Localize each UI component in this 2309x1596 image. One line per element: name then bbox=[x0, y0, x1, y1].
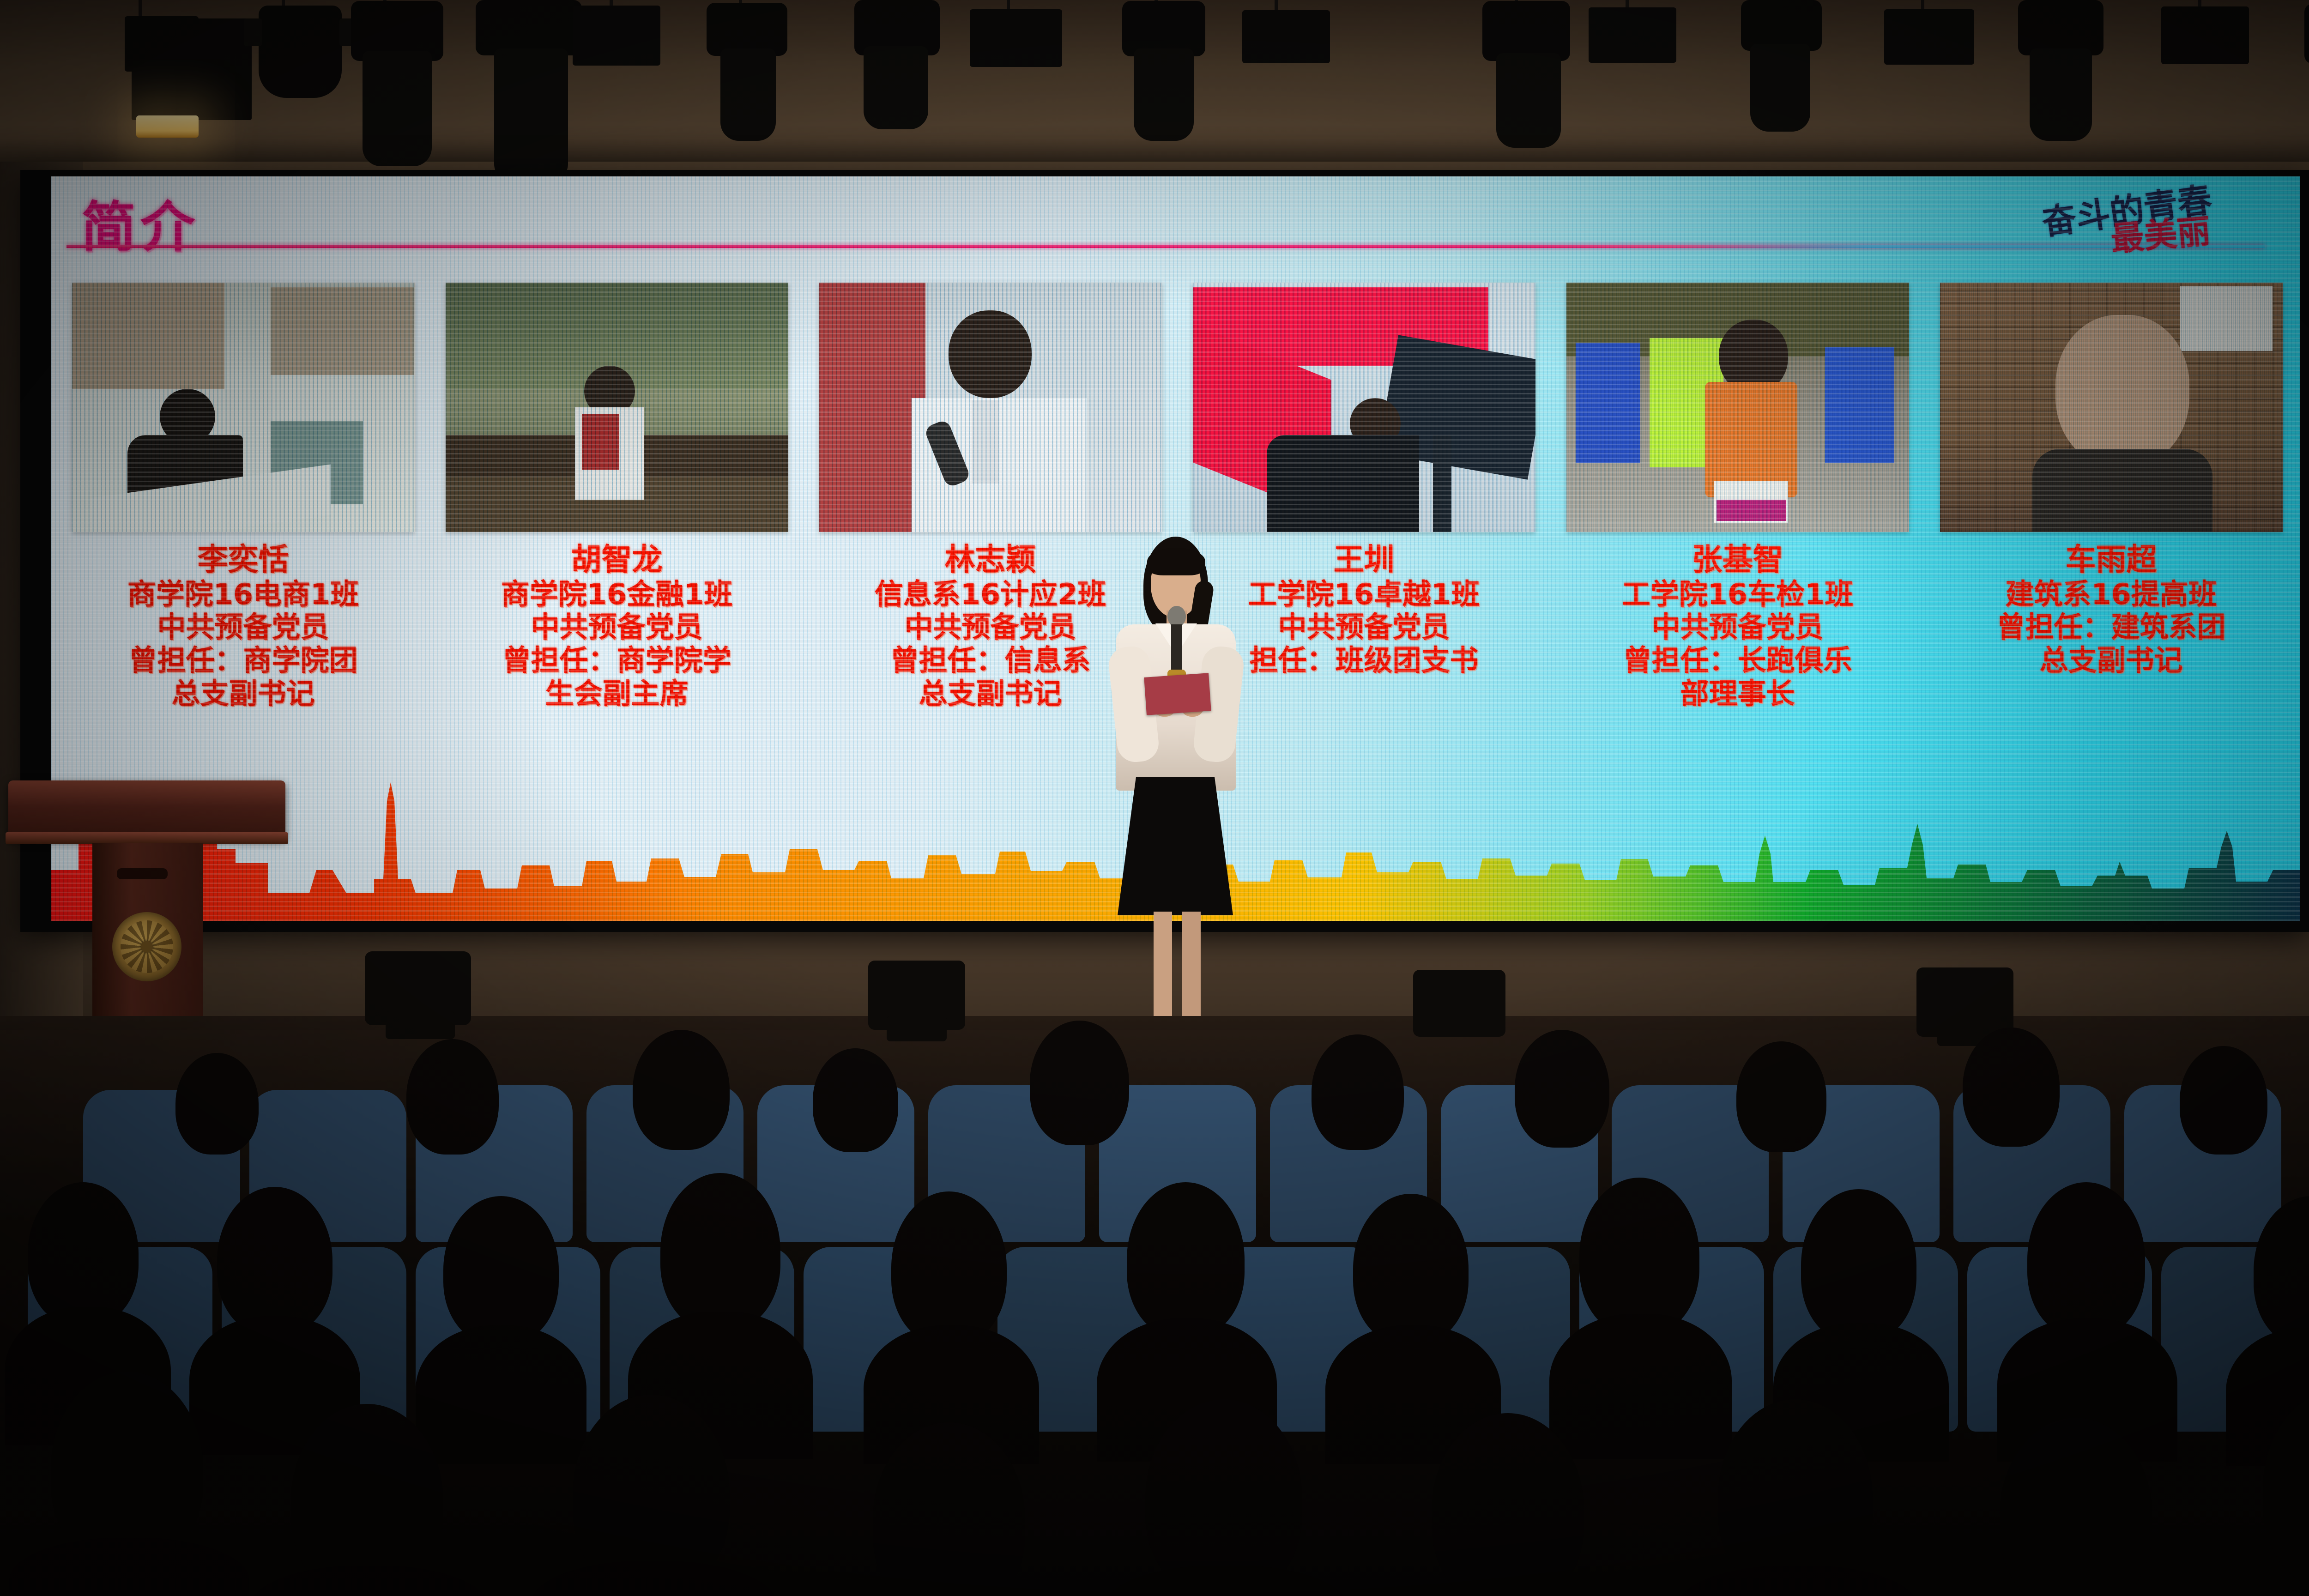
person-class: 商学院16金融1班 bbox=[501, 578, 732, 611]
person-name: 车雨超 bbox=[1996, 542, 2225, 578]
person-card: 李奕恬 商学院16电商1班 中共预备党员 曾担任：商学院团 总支副书记 bbox=[71, 283, 415, 710]
person-card: 胡智龙 商学院16金融1班 中共预备党员 曾担任：商学院学 生会副主席 bbox=[445, 283, 789, 710]
person-name: 林志颖 bbox=[875, 542, 1106, 578]
person-photo bbox=[1193, 283, 1535, 532]
person-class: 信息系16计应2班 bbox=[875, 578, 1106, 611]
calligraphy-line-2: 最美丽 bbox=[2109, 204, 2212, 260]
person-card: 车雨超 建筑系16提高班 曾担任：建筑系团 总支副书记 bbox=[1939, 283, 2283, 677]
podium-emblem-icon bbox=[112, 912, 181, 981]
person-info: 车雨超 建筑系16提高班 曾担任：建筑系团 总支副书记 bbox=[1996, 542, 2225, 677]
person-class: 工学院16车检1班 bbox=[1622, 578, 1853, 611]
person-role-line-2: 总支副书记 bbox=[127, 677, 359, 710]
person-class: 工学院16卓越1班 bbox=[1248, 578, 1480, 611]
person-party: 中共预备党员 bbox=[875, 611, 1106, 644]
person-role-line-2: 总支副书记 bbox=[1996, 644, 2225, 677]
auditorium-scene: 简介 奋斗的青春 最美丽 李奕恬 bbox=[0, 0, 2309, 1596]
person-info: 李奕恬 商学院16电商1班 中共预备党员 曾担任：商学院团 总支副书记 bbox=[127, 542, 359, 710]
person-photo bbox=[446, 283, 788, 532]
person-info: 胡智龙 商学院16金融1班 中共预备党员 曾担任：商学院学 生会副主席 bbox=[501, 542, 732, 710]
person-name: 胡智龙 bbox=[501, 542, 732, 578]
person-party: 中共预备党员 bbox=[501, 611, 732, 644]
person-role-line-1: 曾担任：商学院团 bbox=[127, 644, 359, 677]
person-photo bbox=[1940, 283, 2283, 532]
person-name: 张基智 bbox=[1622, 542, 1853, 578]
presenter bbox=[1099, 537, 1251, 1026]
person-info: 王圳 工学院16卓越1班 中共预备党员 担任：班级团支书 bbox=[1248, 542, 1480, 677]
person-photo bbox=[72, 283, 415, 532]
person-role-line-2: 总支副书记 bbox=[875, 677, 1106, 710]
person-name: 李奕恬 bbox=[127, 542, 359, 578]
person-photo bbox=[819, 283, 1162, 532]
person-party: 中共预备党员 bbox=[127, 611, 359, 644]
slide-title: 简介 bbox=[81, 183, 199, 262]
person-role-line-1: 曾担任：长跑俱乐 bbox=[1622, 644, 1853, 677]
person-card: 张基智 工学院16车检1班 中共预备党员 曾担任：长跑俱乐 部理事长 bbox=[1566, 283, 1910, 710]
person-class: 商学院16电商1班 bbox=[127, 578, 359, 611]
person-photo bbox=[1566, 283, 1909, 532]
person-role-line-1: 曾担任：商学院学 bbox=[501, 644, 732, 677]
podium-lip bbox=[6, 832, 288, 844]
person-name: 王圳 bbox=[1248, 542, 1480, 578]
podium-handle bbox=[117, 868, 168, 879]
person-info: 林志颖 信息系16计应2班 中共预备党员 曾担任：信息系 总支副书记 bbox=[875, 542, 1106, 710]
person-party: 中共预备党员 bbox=[1248, 611, 1480, 644]
person-role-line-2: 生会副主席 bbox=[501, 677, 732, 710]
person-role-line-1: 曾担任：建筑系团 bbox=[1996, 611, 2225, 644]
podium-desktop bbox=[8, 780, 285, 840]
person-role-line-2: 部理事长 bbox=[1622, 677, 1853, 710]
person-info: 张基智 工学院16车检1班 中共预备党员 曾担任：长跑俱乐 部理事长 bbox=[1622, 542, 1853, 710]
person-class: 建筑系16提高班 bbox=[1996, 578, 2225, 611]
person-role-line-1: 曾担任：信息系 bbox=[875, 644, 1106, 677]
title-divider bbox=[66, 245, 2265, 248]
calligraphy-logo: 奋斗的青春 最美丽 bbox=[2041, 179, 2254, 244]
cue-card bbox=[1144, 673, 1211, 715]
person-party: 中共预备党员 bbox=[1622, 611, 1853, 644]
person-role-line-1: 担任：班级团支书 bbox=[1248, 644, 1480, 677]
